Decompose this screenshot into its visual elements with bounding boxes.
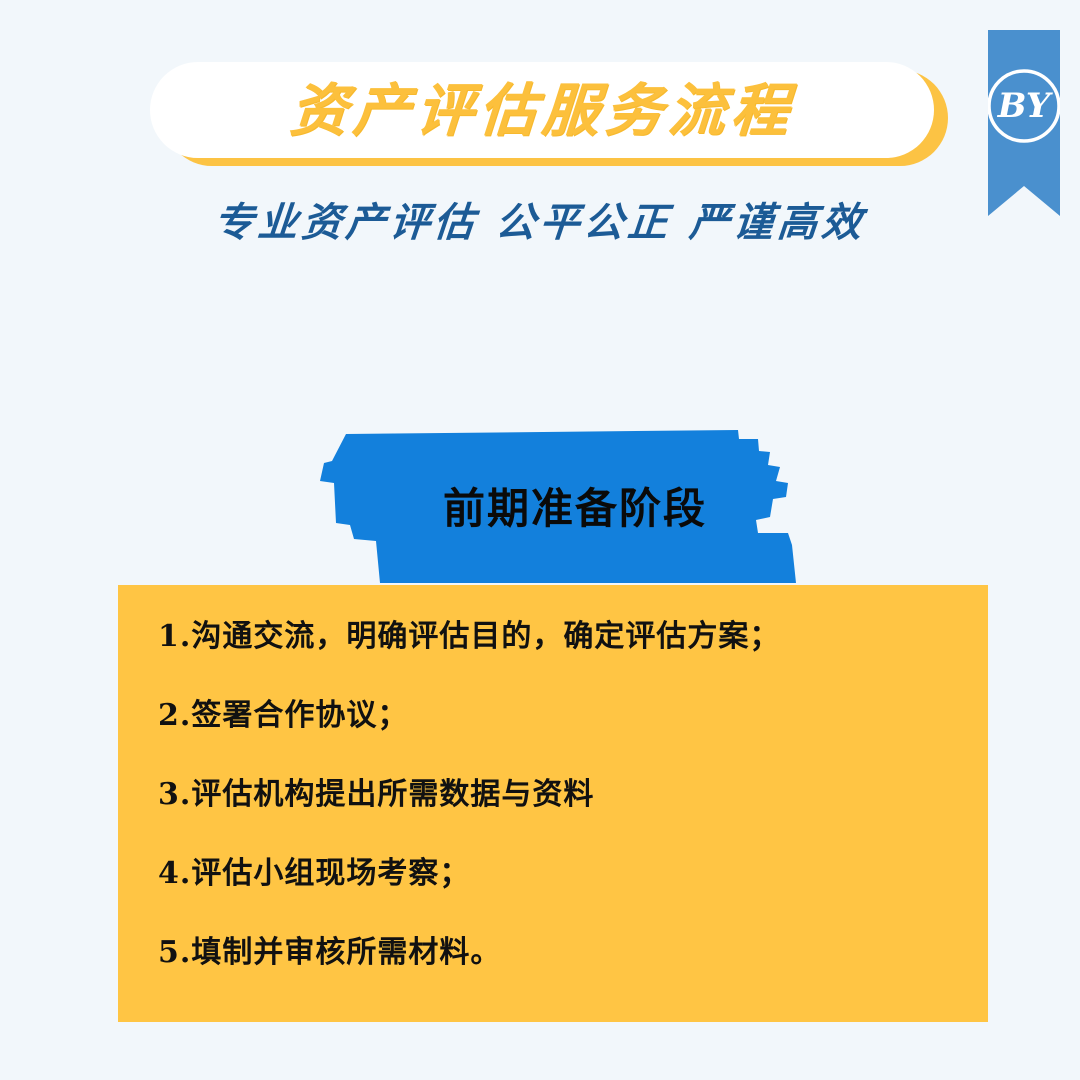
header: 资产评估服务流程 专业资产评估 公平公正 严谨高效 BY xyxy=(0,0,1080,280)
stage-banner: 前期准备阶段 xyxy=(318,425,810,585)
step-item: 3.评估机构提出所需数据与资料 xyxy=(158,777,948,813)
steps-card: 1.沟通交流，明确评估目的，确定评估方案； 2.签署合作协议； 3.评估机构提出… xyxy=(118,585,988,1022)
poster-root: 资产评估服务流程 专业资产评估 公平公正 严谨高效 BY 前期准备阶段 1.沟通… xyxy=(0,0,1080,1080)
step-item: 4.评估小组现场考察； xyxy=(158,856,948,892)
step-item: 1.沟通交流，明确评估目的，确定评估方案； xyxy=(158,619,948,655)
step-item: 2.签署合作协议； xyxy=(158,698,948,734)
stage-label: 前期准备阶段 xyxy=(318,425,810,585)
ribbon-badge: BY xyxy=(988,30,1060,216)
page-subtitle: 专业资产评估 公平公正 严谨高效 xyxy=(0,190,1080,248)
title-pill: 资产评估服务流程 xyxy=(150,62,934,158)
page-title: 资产评估服务流程 xyxy=(288,82,796,139)
badge-text: BY xyxy=(988,76,1060,136)
step-item: 5.填制并审核所需材料。 xyxy=(158,935,948,971)
